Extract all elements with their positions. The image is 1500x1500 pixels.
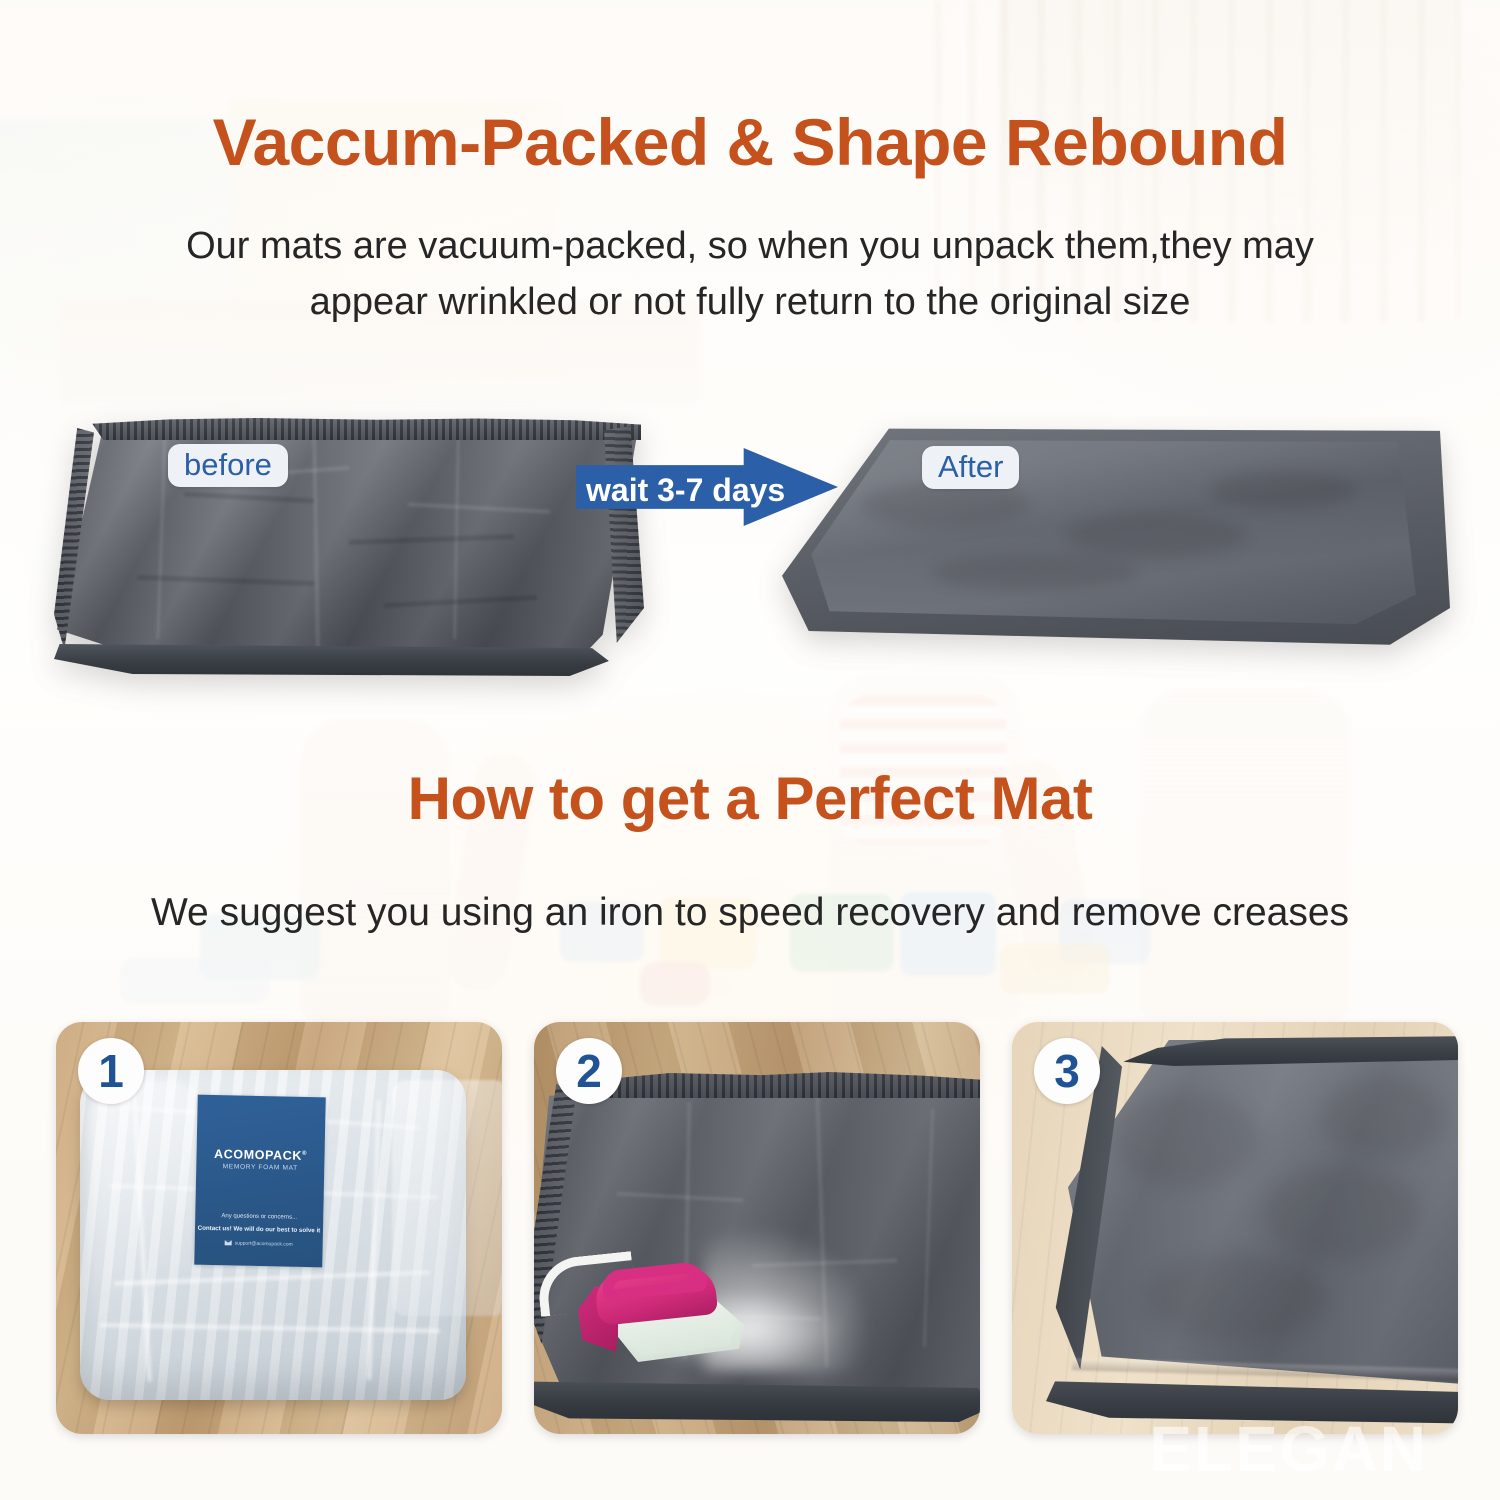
label-before: before bbox=[168, 444, 288, 487]
label-contact-line: Contact us! We will do our best to solve… bbox=[195, 1225, 323, 1235]
support-email: support@acomopack.com bbox=[235, 1240, 293, 1247]
mat-after-image bbox=[782, 424, 1450, 654]
section2-subtitle: We suggest you using an iron to speed re… bbox=[0, 884, 1500, 942]
mat-after-surface bbox=[811, 440, 1416, 624]
section1-subtitle-line2: appear wrinkled or not fully return to t… bbox=[118, 274, 1382, 330]
section2-title: How to get a Perfect Mat bbox=[0, 764, 1500, 833]
step-badge-3: 3 bbox=[1034, 1038, 1100, 1104]
step-panel-3: 3 bbox=[1012, 1022, 1458, 1434]
section1-subtitle-line1: Our mats are vacuum-packed, so when you … bbox=[118, 218, 1382, 274]
label-email-line: support@acomopack.com bbox=[195, 1240, 323, 1249]
step-badge-2: 2 bbox=[556, 1038, 622, 1104]
step-panel-2: 2 bbox=[534, 1022, 980, 1434]
mat-before-image bbox=[54, 418, 644, 676]
product-label-card: ACOMOPACK® MEMORY FOAM MAT Any questions… bbox=[194, 1095, 326, 1268]
arrow-label: wait 3-7 days bbox=[586, 474, 744, 506]
envelope-icon bbox=[225, 1240, 232, 1245]
section1-subtitle: Our mats are vacuum-packed, so when you … bbox=[0, 218, 1500, 330]
plastic-wrap bbox=[392, 1080, 502, 1316]
step-badge-1: 1 bbox=[78, 1038, 144, 1104]
brand-name: ACOMOPACK® bbox=[196, 1147, 324, 1164]
mat-edge-top bbox=[586, 1072, 980, 1098]
section1-title: Vaccum-Packed & Shape Rebound bbox=[0, 104, 1500, 180]
mat-before-surface bbox=[54, 418, 644, 676]
step-panel-1: ACOMOPACK® MEMORY FOAM MAT Any questions… bbox=[56, 1022, 502, 1434]
label-question-line: Any questions or concerns... bbox=[195, 1213, 323, 1222]
mat-before-edge-top bbox=[92, 418, 641, 440]
product-name: MEMORY FOAM MAT bbox=[196, 1163, 324, 1173]
iron-icon bbox=[540, 1260, 756, 1372]
steps-gallery: ACOMOPACK® MEMORY FOAM MAT Any questions… bbox=[0, 1022, 1500, 1434]
label-after: After bbox=[922, 446, 1019, 489]
